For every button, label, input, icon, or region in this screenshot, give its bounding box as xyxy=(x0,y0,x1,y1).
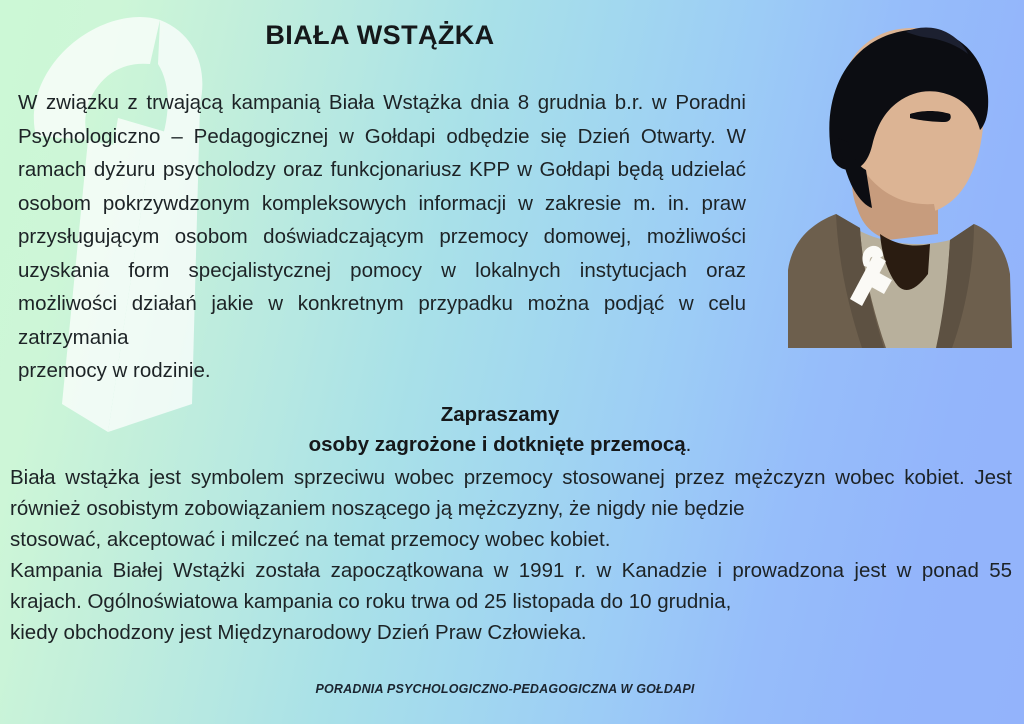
invitation-line-2-bold: osoby zagrożone i dotknięte przemocą xyxy=(309,433,686,456)
footer-organization-name: PORADNIA PSYCHOLOGICZNO-PEDAGOGICZNA W G… xyxy=(0,682,1010,696)
man-with-white-ribbon-illustration xyxy=(788,18,1024,348)
body-paragraph-1: Biała wstążka jest symbolem sprzeciwu wo… xyxy=(10,462,1012,555)
intro-paragraph-last-line: przemocy w rodzinie. xyxy=(18,354,746,388)
body-paragraph-2: Kampania Białej Wstążki została zapocząt… xyxy=(10,555,1012,648)
invitation-line-2-period: . xyxy=(686,433,692,456)
invitation-line-1: Zapraszamy xyxy=(250,400,750,430)
invitation-line-2: osoby zagrożone i dotknięte przemocą. xyxy=(250,430,750,460)
body-paragraph-1-last-line: stosować, akceptować i milczeć na temat … xyxy=(10,524,1012,555)
body-text-block: Biała wstążka jest symbolem sprzeciwu wo… xyxy=(10,462,1012,648)
body-paragraph-2-text: Kampania Białej Wstążki została zapocząt… xyxy=(10,559,1012,613)
body-paragraph-2-last-line: kiedy obchodzony jest Międzynarodowy Dzi… xyxy=(10,617,1012,648)
page-title: BIAŁA WSTĄŻKA xyxy=(0,20,760,51)
intro-paragraph-text: W związku z trwającą kampanią Biała Wstą… xyxy=(18,91,746,349)
poster-canvas: BIAŁA WSTĄŻKA W związku z trwającą kampa… xyxy=(0,0,1024,724)
body-paragraph-1-text: Biała wstążka jest symbolem sprzeciwu wo… xyxy=(10,466,1012,520)
invitation-block: Zapraszamy osoby zagrożone i dotknięte p… xyxy=(250,400,750,460)
intro-paragraph: W związku z trwającą kampanią Biała Wstą… xyxy=(18,86,746,388)
